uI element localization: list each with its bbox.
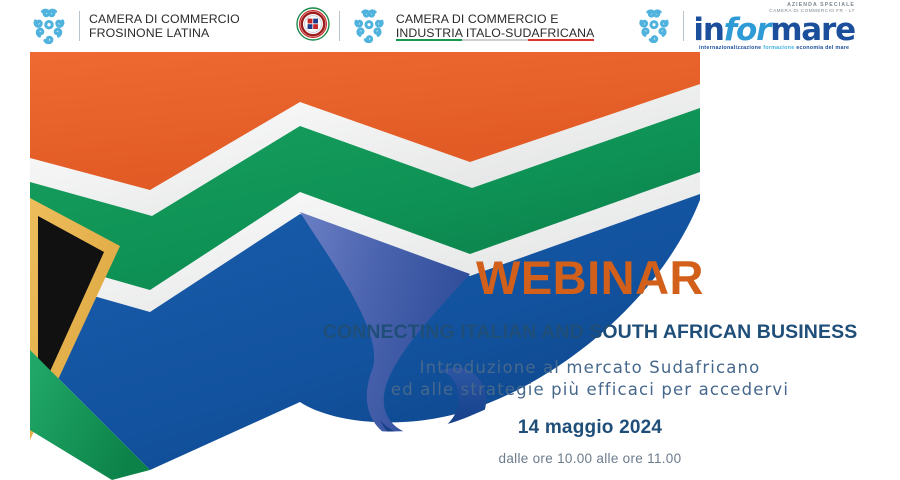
- informare-in: in: [693, 12, 723, 48]
- logo-camera-commercio-italo-sudafricana: CAMERA DI COMMERCIO E INDUSTRIA ITALO-SU…: [296, 0, 595, 52]
- cciaa-spiral-icon: [28, 4, 70, 49]
- informare-for: for: [724, 12, 770, 48]
- logo-text-italo-sudafricana: CAMERA DI COMMERCIO E INDUSTRIA ITALO-SU…: [396, 12, 595, 40]
- cciaa-spiral-icon: [349, 5, 389, 48]
- description-line-2: ed alle strategie più efficaci per acced…: [300, 379, 880, 401]
- informare-wordmark: informare: [693, 15, 855, 45]
- description-line-1: Introduzione al mercato Sudafricano: [300, 357, 880, 379]
- logo-divider: [79, 11, 80, 41]
- logo-line-2-text: INDUSTRIA ITALO-SUDAFRICANA: [396, 26, 595, 40]
- logo-divider: [683, 11, 684, 41]
- event-description: Introduzione al mercato Sudafricano ed a…: [300, 357, 880, 401]
- italian-emblem-icon: [296, 7, 330, 46]
- header-logo-bar: CAMERA DI COMMERCIO FROSINONE LATINA: [0, 0, 900, 52]
- logo-line-2: INDUSTRIA ITALO-SUDAFRICANA: [396, 26, 595, 40]
- logo-line-1: CAMERA DI COMMERCIO E: [396, 12, 595, 26]
- logo-line-1: CAMERA DI COMMERCIO: [89, 12, 240, 26]
- page-title: WEBINAR: [300, 250, 880, 306]
- logo-divider: [339, 11, 340, 41]
- tagline-formazione: formazione: [763, 45, 796, 51]
- logo-text-frosinone: CAMERA DI COMMERCIO FROSINONE LATINA: [89, 12, 240, 40]
- event-text-block: WEBINAR CONNECTING ITALIAN AND SOUTH AFR…: [300, 250, 880, 466]
- cciaa-spiral-icon: [634, 5, 674, 48]
- flag-underline: [396, 39, 595, 41]
- logo-line-2: FROSINONE LATINA: [89, 26, 240, 40]
- informare-tagline: internazionalizzazione formazione econom…: [693, 45, 855, 51]
- flag-left-margin: [0, 50, 30, 480]
- tagline-internazionalizzazione: internazionalizzazione: [699, 45, 763, 51]
- event-tagline: CONNECTING ITALIAN AND SOUTH AFRICAN BUS…: [300, 320, 880, 344]
- informare-lockup: AZIENDA SPECIALE CAMERA DI COMMERCIO FR …: [693, 2, 855, 51]
- informare-mare: mare: [770, 12, 855, 48]
- logo-informare: AZIENDA SPECIALE CAMERA DI COMMERCIO FR …: [634, 0, 855, 52]
- logo-camera-commercio-frosinone-latina: CAMERA DI COMMERCIO FROSINONE LATINA: [28, 0, 240, 52]
- tagline-economia-del-mare: economia del mare: [796, 45, 849, 51]
- event-date: 14 maggio 2024: [300, 417, 880, 439]
- webinar-poster: CAMERA DI COMMERCIO FROSINONE LATINA: [0, 0, 900, 480]
- event-time: dalle ore 10.00 alle ore 11.00: [300, 451, 880, 466]
